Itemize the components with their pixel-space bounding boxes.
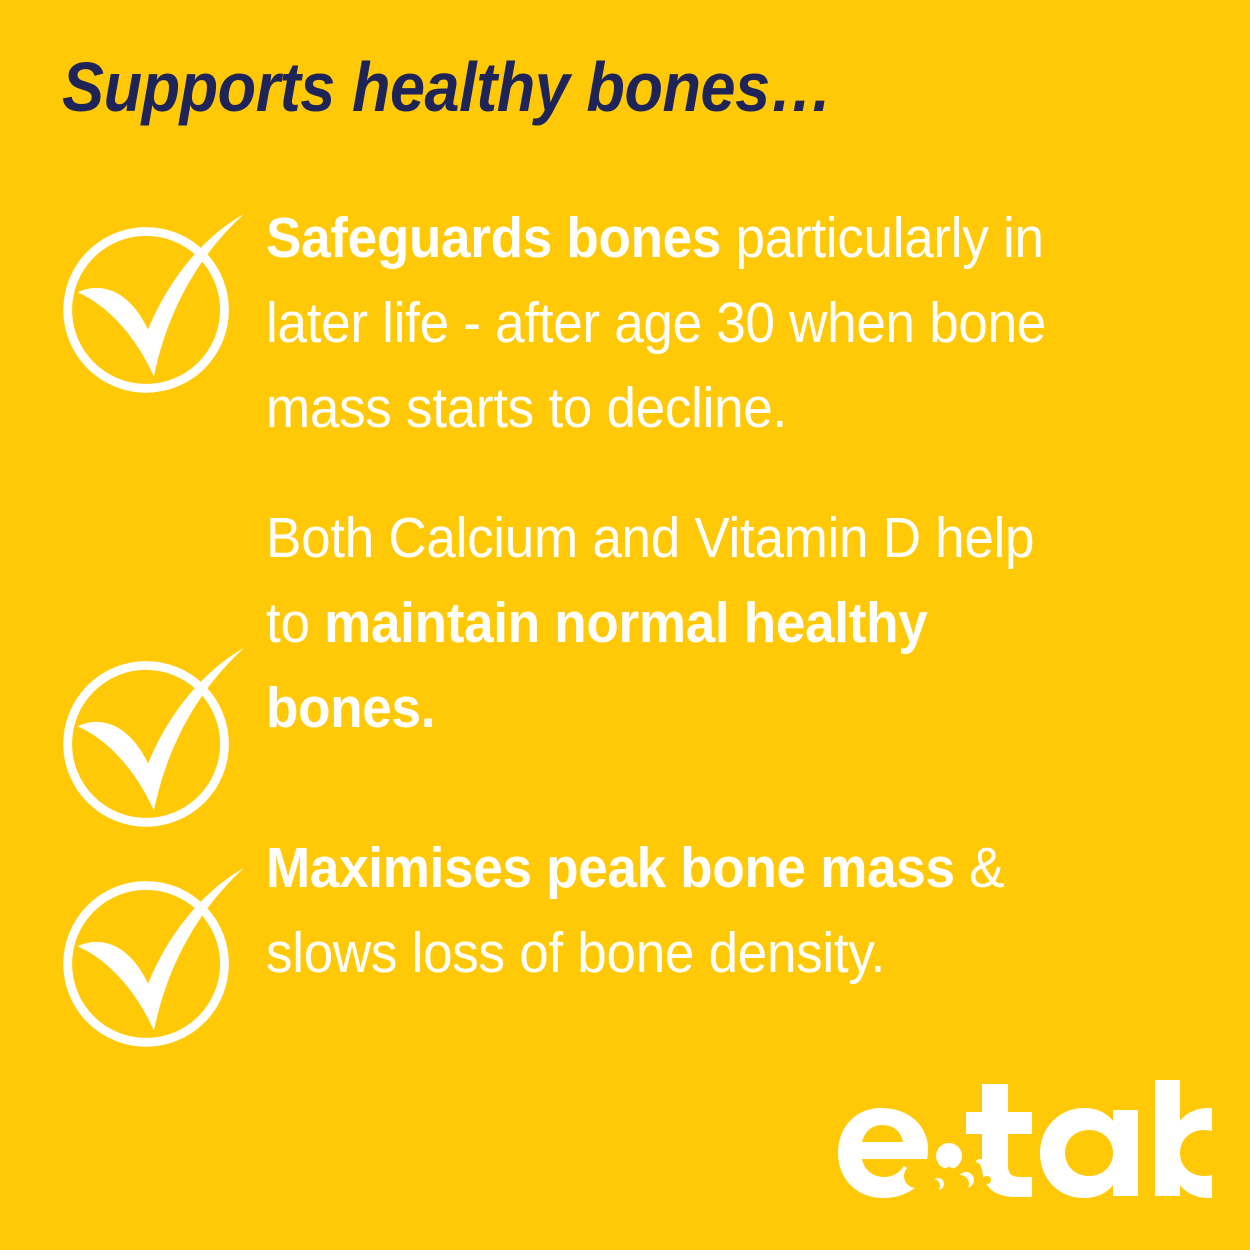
check-circle-icon bbox=[52, 862, 248, 1058]
list-item-text: Safeguards bones particularly in later l… bbox=[266, 196, 1181, 451]
list-item: Safeguards bones particularly in later l… bbox=[0, 196, 1250, 496]
list-item: Both Calcium and Vitamin D help to maint… bbox=[0, 496, 1250, 826]
poster-canvas: Supports healthy bones… Safeguards bones… bbox=[0, 0, 1250, 1250]
list-item: Maximises peak bone mass & slows loss of… bbox=[0, 826, 1250, 1036]
benefits-list: Safeguards bones particularly in later l… bbox=[0, 196, 1250, 1036]
list-item-lead: Safeguards bones bbox=[266, 206, 721, 270]
list-item-text: Both Calcium and Vitamin D help to maint… bbox=[266, 496, 1181, 751]
list-item-lead: Maximises peak bone mass bbox=[266, 836, 955, 900]
page-title: Supports healthy bones… bbox=[62, 52, 832, 122]
etab-logo bbox=[832, 1080, 1212, 1208]
check-circle-icon bbox=[52, 642, 248, 838]
check-circle-icon bbox=[52, 208, 248, 404]
list-item-text: Maximises peak bone mass & slows loss of… bbox=[266, 826, 1181, 996]
list-item-rest: maintain normal healthy bones. bbox=[266, 591, 927, 740]
